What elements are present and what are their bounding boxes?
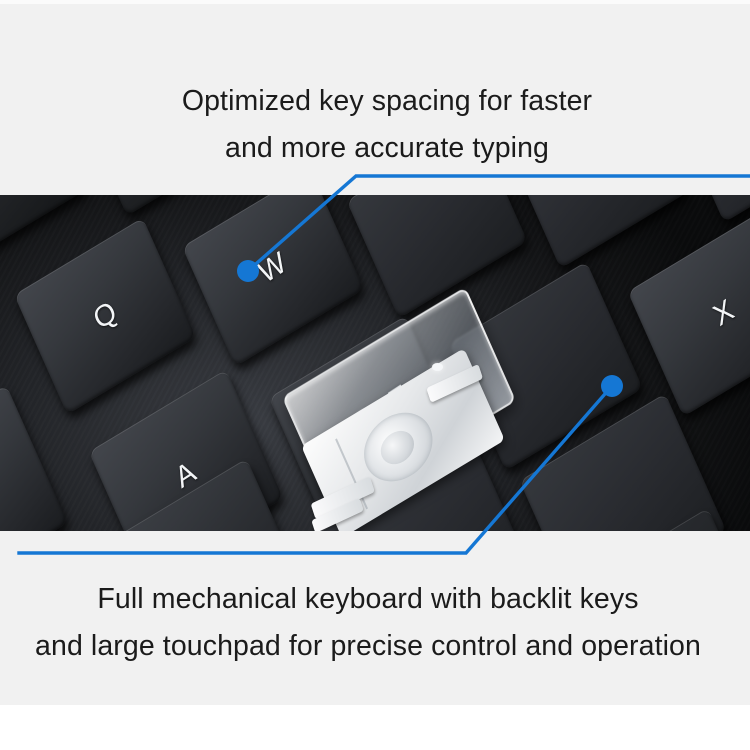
keyboard-scene: 1 Q W D C A S: [0, 195, 750, 531]
top-caption-line-1: Optimized key spacing for faster: [24, 78, 750, 125]
product-feature-banner: Optimized key spacing for faster and mor…: [0, 0, 750, 750]
bottom-caption-line-2: and large touchpad for precise control a…: [0, 623, 750, 670]
top-white-band: [0, 0, 750, 4]
bottom-caption-line-1: Full mechanical keyboard with backlit ke…: [0, 576, 750, 623]
key-x-label: X: [709, 293, 740, 333]
top-caption-block: Optimized key spacing for faster and mor…: [0, 78, 750, 172]
key-q-label: Q: [88, 295, 122, 337]
key-w-label: W: [254, 246, 292, 291]
bottom-white-band: [0, 705, 750, 750]
bottom-caption-block: Full mechanical keyboard with backlit ke…: [0, 576, 750, 670]
keyboard-photo: 1 Q W D C A S: [0, 195, 750, 531]
backlight-led-dot: [432, 363, 443, 371]
top-caption-line-2: and more accurate typing: [24, 125, 750, 172]
